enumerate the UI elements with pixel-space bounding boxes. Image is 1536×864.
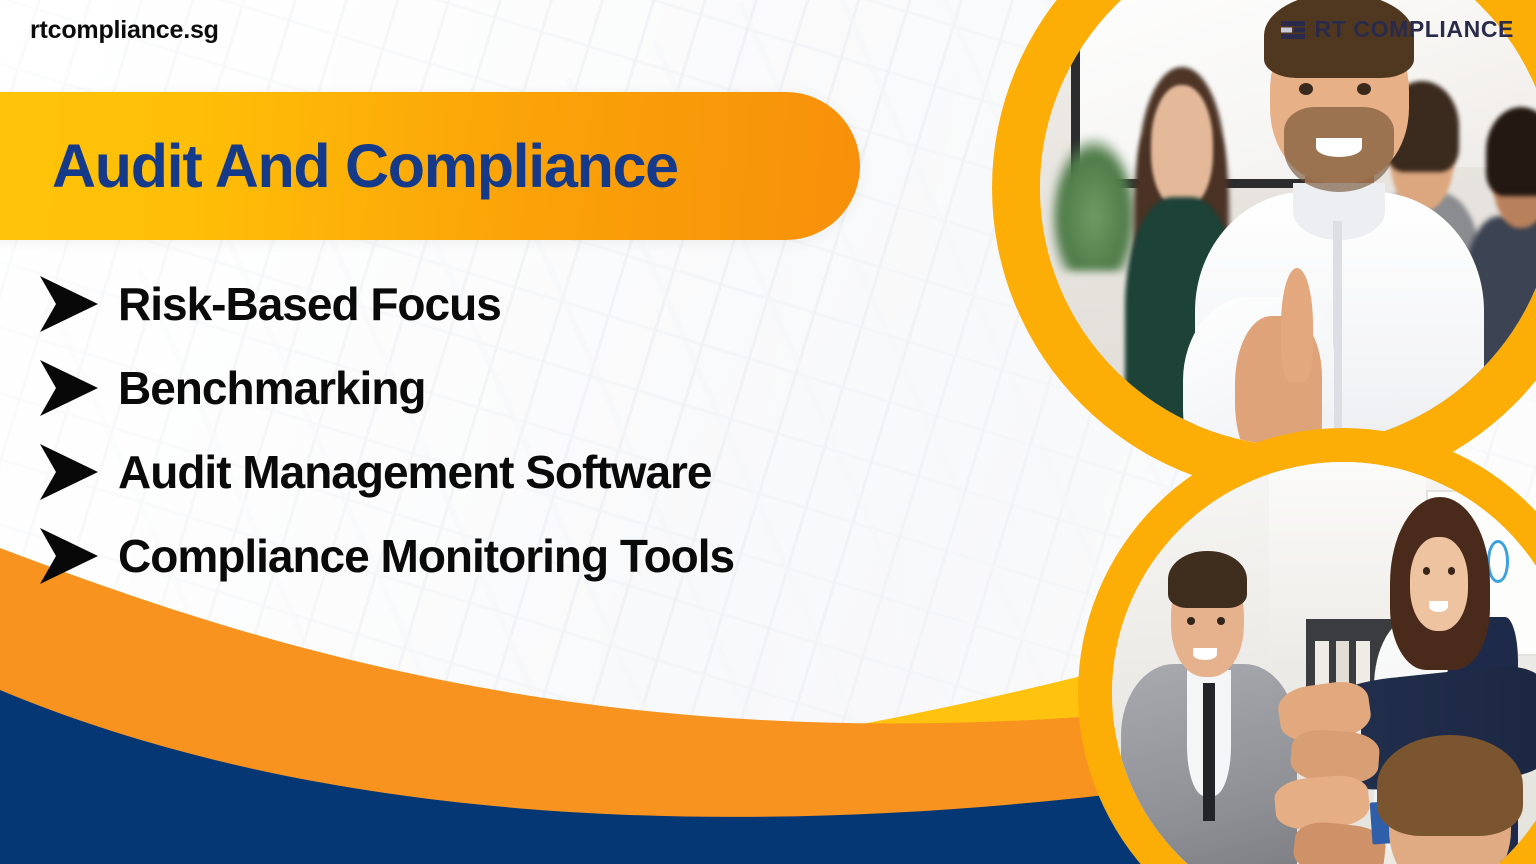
arrow-bullet-icon [36,442,102,502]
list-item-label: Benchmarking [118,365,426,411]
face [1410,537,1468,630]
arrow-bullet-icon [36,526,102,586]
list-item: Benchmarking [36,346,734,430]
hero-businessman [1195,2,1484,446]
site-url: rtcompliance.sg [30,16,219,45]
brand-logo: RT COMPLIANCE [1280,16,1514,43]
businessman-thumbs-up-photo [1040,0,1536,446]
photo-circle-top-image [1040,0,1536,446]
eye-left [1187,617,1195,625]
hair [1377,735,1523,837]
team-member-left [1130,564,1287,864]
title-banner: Audit And Compliance [0,92,860,240]
photo-circle-bottom-ring [1078,428,1536,864]
eye-left [1423,567,1430,574]
thumb [1281,268,1313,382]
list-item: Risk-Based Focus [36,262,734,346]
rt-bars-mark-icon [1280,17,1306,43]
photo-circle-top-ring [992,0,1536,494]
list-item-label: Compliance Monitoring Tools [118,533,734,579]
banner-canvas: rtcompliance.sg RT COMPLIANCE Audit And … [0,0,1536,864]
smile [1193,648,1217,659]
smile [1316,138,1362,157]
eye-right [1217,617,1225,625]
list-item: Audit Management Software [36,430,734,514]
photo-circle-bottom-image [1112,462,1536,864]
brand-logo-text: RT COMPLIANCE [1315,16,1514,43]
list-item-label: Audit Management Software [118,449,712,495]
chart-dot-yellow [1517,521,1530,547]
shirt-placket [1333,221,1342,446]
eye-right [1448,567,1455,574]
list-item: Compliance Monitoring Tools [36,514,734,598]
list-item-label: Risk-Based Focus [118,281,501,327]
hair [1168,551,1247,608]
team-hands-together-photo [1112,462,1536,864]
arrow-bullet-icon [36,274,102,334]
page-title: Audit And Compliance [52,131,678,201]
necktie [1203,683,1216,821]
smile [1429,601,1448,612]
team-member-foreground [1352,739,1536,864]
arrow-bullet-icon [36,358,102,418]
feature-list: Risk-Based Focus Benchmarking Audit Mana… [36,262,734,598]
